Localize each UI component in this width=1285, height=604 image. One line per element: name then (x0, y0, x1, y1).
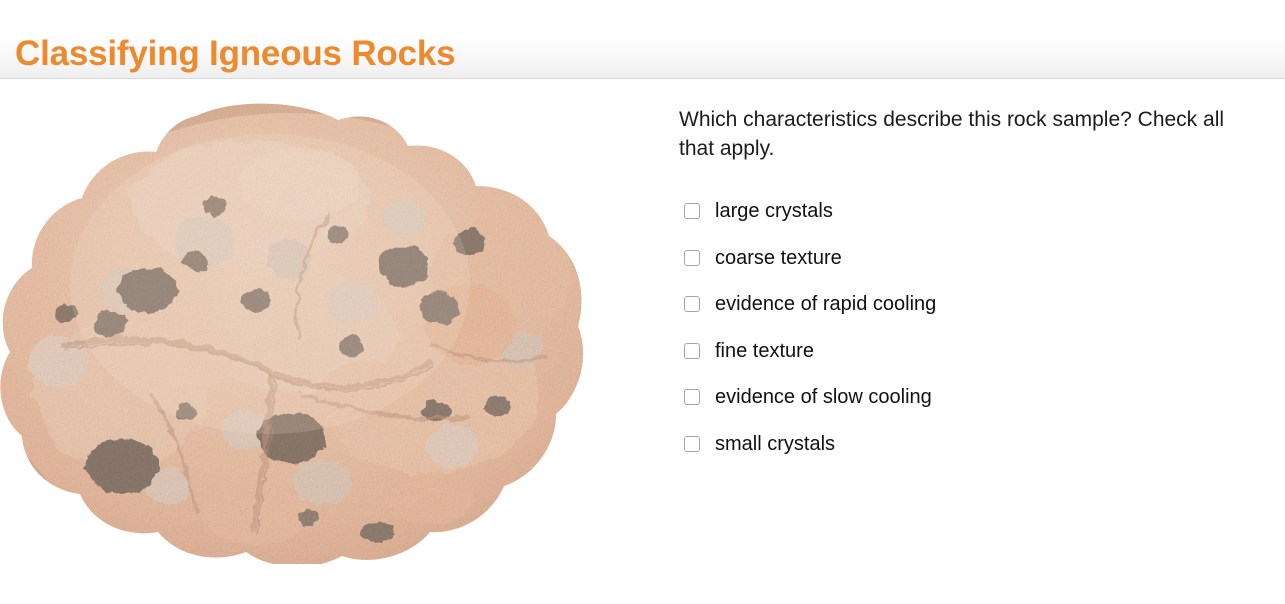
checkbox-small-crystals[interactable] (684, 436, 700, 452)
checkbox-evidence-of-rapid-cooling[interactable] (684, 296, 700, 312)
option-label-fine-texture[interactable]: fine texture (715, 339, 814, 363)
checkbox-evidence-of-slow-cooling[interactable] (684, 389, 700, 405)
option-row-large-crystals[interactable]: large crystals (684, 188, 1244, 235)
option-row-evidence-of-rapid-cooling[interactable]: evidence of rapid cooling (684, 281, 1244, 328)
option-label-evidence-of-rapid-cooling[interactable]: evidence of rapid cooling (715, 292, 936, 316)
checkbox-fine-texture[interactable] (684, 343, 700, 359)
option-label-large-crystals[interactable]: large crystals (715, 199, 833, 223)
option-row-coarse-texture[interactable]: coarse texture (684, 235, 1244, 282)
option-row-small-crystals[interactable]: small crystals (684, 421, 1244, 468)
main-content: Which characteristics describe this rock… (0, 80, 1285, 604)
question-prompt: Which characteristics describe this rock… (679, 105, 1244, 163)
option-label-small-crystals[interactable]: small crystals (715, 432, 835, 456)
option-row-evidence-of-slow-cooling[interactable]: evidence of slow cooling (684, 374, 1244, 421)
checkbox-coarse-texture[interactable] (684, 250, 700, 266)
option-row-fine-texture[interactable]: fine texture (684, 328, 1244, 375)
question-panel: Which characteristics describe this rock… (679, 105, 1259, 163)
checkbox-large-crystals[interactable] (684, 203, 700, 219)
option-label-coarse-texture[interactable]: coarse texture (715, 246, 842, 270)
page-title: Classifying Igneous Rocks (15, 31, 455, 77)
rock-sample-image (0, 94, 600, 564)
checkbox-options-list: large crystals coarse texture evidence o… (684, 188, 1244, 467)
option-label-evidence-of-slow-cooling[interactable]: evidence of slow cooling (715, 385, 932, 409)
page-header: Classifying Igneous Rocks (0, 0, 1285, 79)
